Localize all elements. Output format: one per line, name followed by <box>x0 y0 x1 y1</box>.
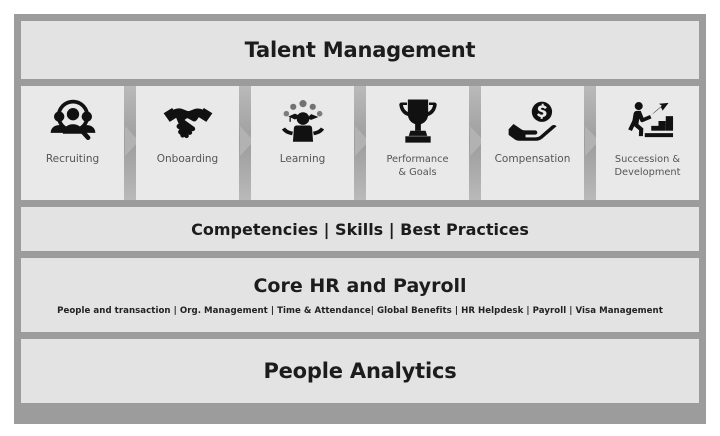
pipeline-stage-label: Performance & Goals <box>382 153 452 179</box>
diagram-frame: Talent Management Recruiting <box>14 14 706 424</box>
pipeline-stage-recruiting[interactable]: Recruiting <box>21 86 124 200</box>
pipeline-stage-label: Onboarding <box>153 153 222 166</box>
pipeline-stage-learning[interactable]: Learning <box>251 86 354 200</box>
competencies-title: Competencies | Skills | Best Practices <box>191 220 529 239</box>
talent-pipeline: Recruiting Onboarding <box>21 86 699 200</box>
handshake-icon <box>161 95 215 147</box>
pipeline-stage-label: Recruiting <box>42 153 103 166</box>
pipeline-stage-performance-goals[interactable]: Performance & Goals <box>366 86 469 200</box>
pipeline-stage-succession-development[interactable]: Succession & Development <box>596 86 699 200</box>
pipeline-stage-label: Compensation <box>491 153 575 166</box>
talent-management-diagram: Talent Management Recruiting <box>0 0 720 436</box>
people-search-icon <box>46 95 100 147</box>
person-learning-icon <box>276 95 330 147</box>
band-people-analytics: People Analytics <box>21 339 699 403</box>
core-hr-modules-list: People and transaction | Org. Management… <box>57 306 663 316</box>
pipeline-stage-onboarding[interactable]: Onboarding <box>136 86 239 200</box>
band-core-hr-and-payroll: Core HR and Payroll People and transacti… <box>21 258 699 332</box>
band-competencies: Competencies | Skills | Best Practices <box>21 207 699 251</box>
talent-management-title: Talent Management <box>245 38 476 62</box>
people-analytics-title: People Analytics <box>263 359 456 383</box>
pipeline-stage-compensation[interactable]: Compensation <box>481 86 584 200</box>
hand-coin-icon <box>506 95 560 147</box>
trophy-icon <box>391 95 445 147</box>
pipeline-stage-label: Succession & Development <box>611 153 685 179</box>
core-hr-title: Core HR and Payroll <box>253 275 466 297</box>
person-stairs-growth-icon <box>621 95 675 147</box>
pipeline-stage-label: Learning <box>276 153 330 166</box>
band-talent-management: Talent Management <box>21 21 699 79</box>
